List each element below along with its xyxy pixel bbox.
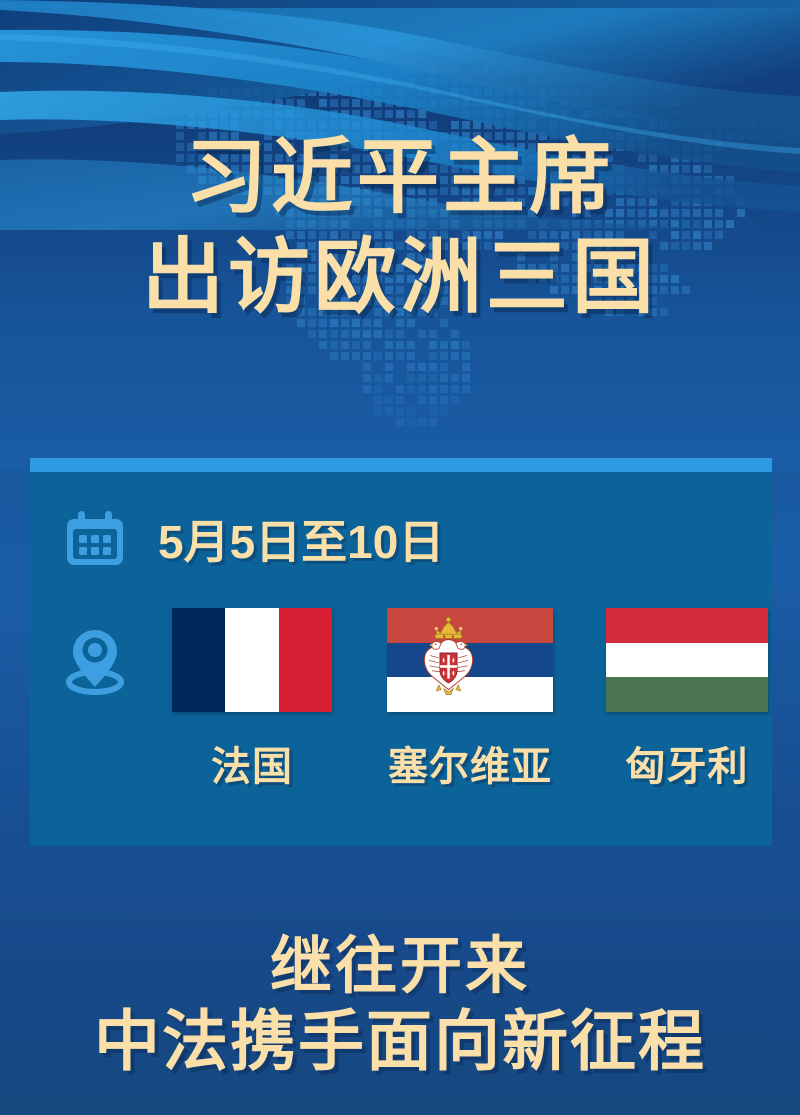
hungary-green-band xyxy=(606,677,768,712)
info-card: 5月5日至10日 法 xyxy=(30,458,772,846)
country-label-hungary: 匈牙利 xyxy=(626,734,749,792)
title-line-1: 习近平主席 xyxy=(0,128,800,228)
poster-title: 习近平主席 出访欧洲三国 xyxy=(0,128,800,328)
calendar-icon xyxy=(58,502,132,576)
visit-date-value: 5月5日至10日 xyxy=(158,506,444,572)
france-blue-band xyxy=(172,608,225,712)
france-white-band xyxy=(225,608,278,712)
flag-hungary xyxy=(606,608,768,712)
country-label-france: 法国 xyxy=(211,734,293,792)
footer-line-1: 继往开来 xyxy=(0,930,800,1003)
map-pin-icon xyxy=(58,608,132,712)
serbia-coat-of-arms xyxy=(412,614,485,706)
flag-list: 法国 xyxy=(148,608,790,792)
date-row: 5月5日至10日 xyxy=(58,502,444,576)
flag-serbia xyxy=(387,608,553,712)
card-accent-bar xyxy=(30,458,772,472)
country-france: 法国 xyxy=(148,608,356,792)
country-label-serbia: 塞尔维亚 xyxy=(388,734,552,792)
countries-row: 法国 xyxy=(58,608,752,792)
france-red-band xyxy=(279,608,332,712)
flag-france xyxy=(172,608,332,712)
country-hungary: 匈牙利 xyxy=(584,608,790,792)
hungary-red-band xyxy=(606,608,768,643)
country-serbia: 塞尔维亚 xyxy=(356,608,584,792)
hungary-white-band xyxy=(606,643,768,678)
poster-root: 习近平主席 出访欧洲三国 5月5日至10日 xyxy=(0,0,800,1115)
footer-line-2: 中法携手面向新征程 xyxy=(0,1003,800,1081)
title-line-2: 出访欧洲三国 xyxy=(0,228,800,328)
footer-slogan: 继往开来 中法携手面向新征程 xyxy=(0,930,800,1081)
